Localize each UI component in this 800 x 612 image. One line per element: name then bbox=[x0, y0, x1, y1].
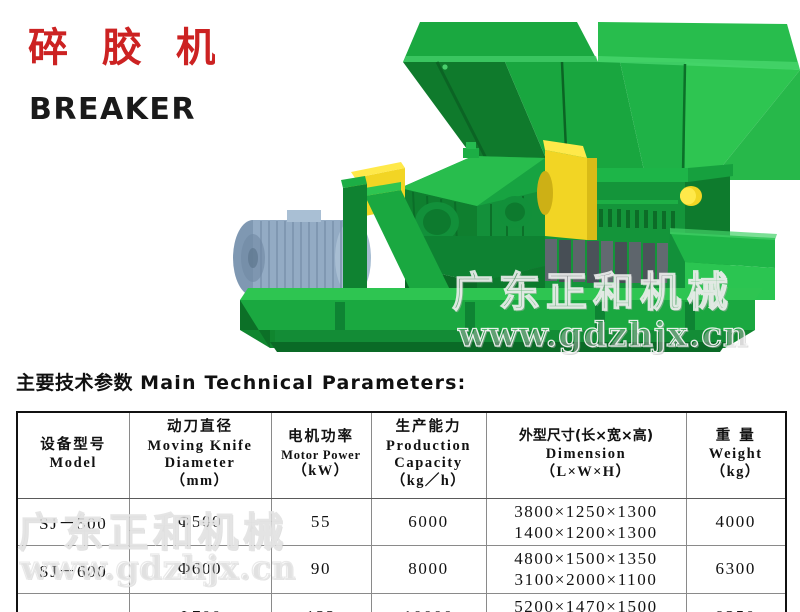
section-heading: 主要技术参数 Main Technical Parameters: bbox=[16, 368, 466, 395]
col-header-capacity-en-2: Capacity bbox=[374, 455, 484, 473]
col-header-dimension-cn: 外型尺寸(长×宽×高) bbox=[489, 427, 684, 446]
cell-knife-diameter: Φ600 bbox=[129, 546, 271, 594]
cell-dimension-line1: 4800×1500×1350 bbox=[489, 548, 684, 569]
section-heading-cn: 主要技术参数 bbox=[16, 372, 133, 394]
cell-capacity: 8000 bbox=[371, 546, 486, 594]
cell-motor-power: 55 bbox=[271, 498, 371, 546]
cell-dimension-line1: 3800×1250×1300 bbox=[489, 501, 684, 522]
cell-weight: 4000 bbox=[686, 498, 786, 546]
cell-model: SJ－700 bbox=[17, 593, 129, 612]
spec-table-container: 设备型号 Model 动刀直径 Moving Knife Diameter （m… bbox=[16, 411, 785, 612]
col-header-knife-diameter-en-2: Diameter bbox=[132, 455, 269, 473]
section-heading-en: Main Technical Parameters: bbox=[140, 372, 466, 394]
spec-table-header: 设备型号 Model 动刀直径 Moving Knife Diameter （m… bbox=[17, 412, 786, 498]
header-row: 设备型号 Model 动刀直径 Moving Knife Diameter （m… bbox=[17, 412, 786, 498]
col-header-motor-power-en: Motor Power bbox=[274, 448, 369, 463]
cell-weight: 6300 bbox=[686, 546, 786, 594]
spec-table: 设备型号 Model 动刀直径 Moving Knife Diameter （m… bbox=[16, 411, 787, 612]
page-title-chinese: 碎 胶 机 bbox=[28, 28, 226, 68]
col-header-dimension-unit: （L×W×H） bbox=[489, 464, 684, 482]
col-header-motor-power: 电机功率 Motor Power （kW） bbox=[271, 412, 371, 498]
col-header-knife-diameter-en-1: Moving Knife bbox=[132, 438, 269, 456]
machine-illustration bbox=[215, 0, 800, 360]
page-title-english: BREAKER bbox=[29, 95, 196, 125]
spec-table-body: SJ－500 Φ500 55 6000 3800×1250×1300 1400×… bbox=[17, 498, 786, 612]
col-header-capacity-cn: 生产能力 bbox=[374, 418, 484, 438]
col-header-model-cn: 设备型号 bbox=[20, 436, 127, 456]
col-header-model: 设备型号 Model bbox=[17, 412, 129, 498]
cell-motor-power: 90 bbox=[271, 546, 371, 594]
cell-dimension-line1: 5200×1470×1500 bbox=[489, 596, 684, 612]
cell-dimension: 5200×1470×1500 2300×3200×1500 bbox=[486, 593, 686, 612]
cell-knife-diameter: Φ500 bbox=[129, 498, 271, 546]
cell-weight: 9350 bbox=[686, 593, 786, 612]
product-photo bbox=[215, 0, 800, 360]
cell-dimension: 3800×1250×1300 1400×1200×1300 bbox=[486, 498, 686, 546]
col-header-knife-diameter-unit: （mm） bbox=[132, 473, 269, 491]
col-header-weight-en: Weight bbox=[689, 446, 784, 464]
cell-dimension-line2: 1400×1200×1300 bbox=[489, 522, 684, 543]
cell-model: SJ－600 bbox=[17, 546, 129, 594]
col-header-weight-cn: 重 量 bbox=[689, 427, 784, 447]
cell-dimension-line2: 3100×2000×1100 bbox=[489, 569, 684, 590]
col-header-capacity: 生产能力 Production Capacity （kg／h） bbox=[371, 412, 486, 498]
col-header-capacity-unit: （kg／h） bbox=[374, 473, 484, 491]
table-row: SJ－600 Φ600 90 8000 4800×1500×1350 3100×… bbox=[17, 546, 786, 594]
col-header-dimension-en: Dimension bbox=[489, 446, 684, 464]
table-row: SJ－700 Φ700 132 10000 5200×1470×1500 230… bbox=[17, 593, 786, 612]
col-header-knife-diameter-cn: 动刀直径 bbox=[132, 418, 269, 438]
cell-dimension: 4800×1500×1350 3100×2000×1100 bbox=[486, 546, 686, 594]
col-header-motor-power-cn: 电机功率 bbox=[274, 428, 369, 448]
cell-capacity: 10000 bbox=[371, 593, 486, 612]
product-datasheet-page: 碎 胶 机 BREAKER bbox=[0, 0, 800, 612]
col-header-capacity-en-1: Production bbox=[374, 438, 484, 456]
col-header-dimension: 外型尺寸(长×宽×高) Dimension （L×W×H） bbox=[486, 412, 686, 498]
cell-knife-diameter: Φ700 bbox=[129, 593, 271, 612]
col-header-motor-power-unit: （kW） bbox=[274, 463, 369, 481]
col-header-model-en: Model bbox=[20, 455, 127, 473]
col-header-knife-diameter: 动刀直径 Moving Knife Diameter （mm） bbox=[129, 412, 271, 498]
table-row: SJ－500 Φ500 55 6000 3800×1250×1300 1400×… bbox=[17, 498, 786, 546]
cell-motor-power: 132 bbox=[271, 593, 371, 612]
cell-capacity: 6000 bbox=[371, 498, 486, 546]
col-header-weight: 重 量 Weight （kg） bbox=[686, 412, 786, 498]
cell-model: SJ－500 bbox=[17, 498, 129, 546]
col-header-weight-unit: （kg） bbox=[689, 464, 784, 482]
